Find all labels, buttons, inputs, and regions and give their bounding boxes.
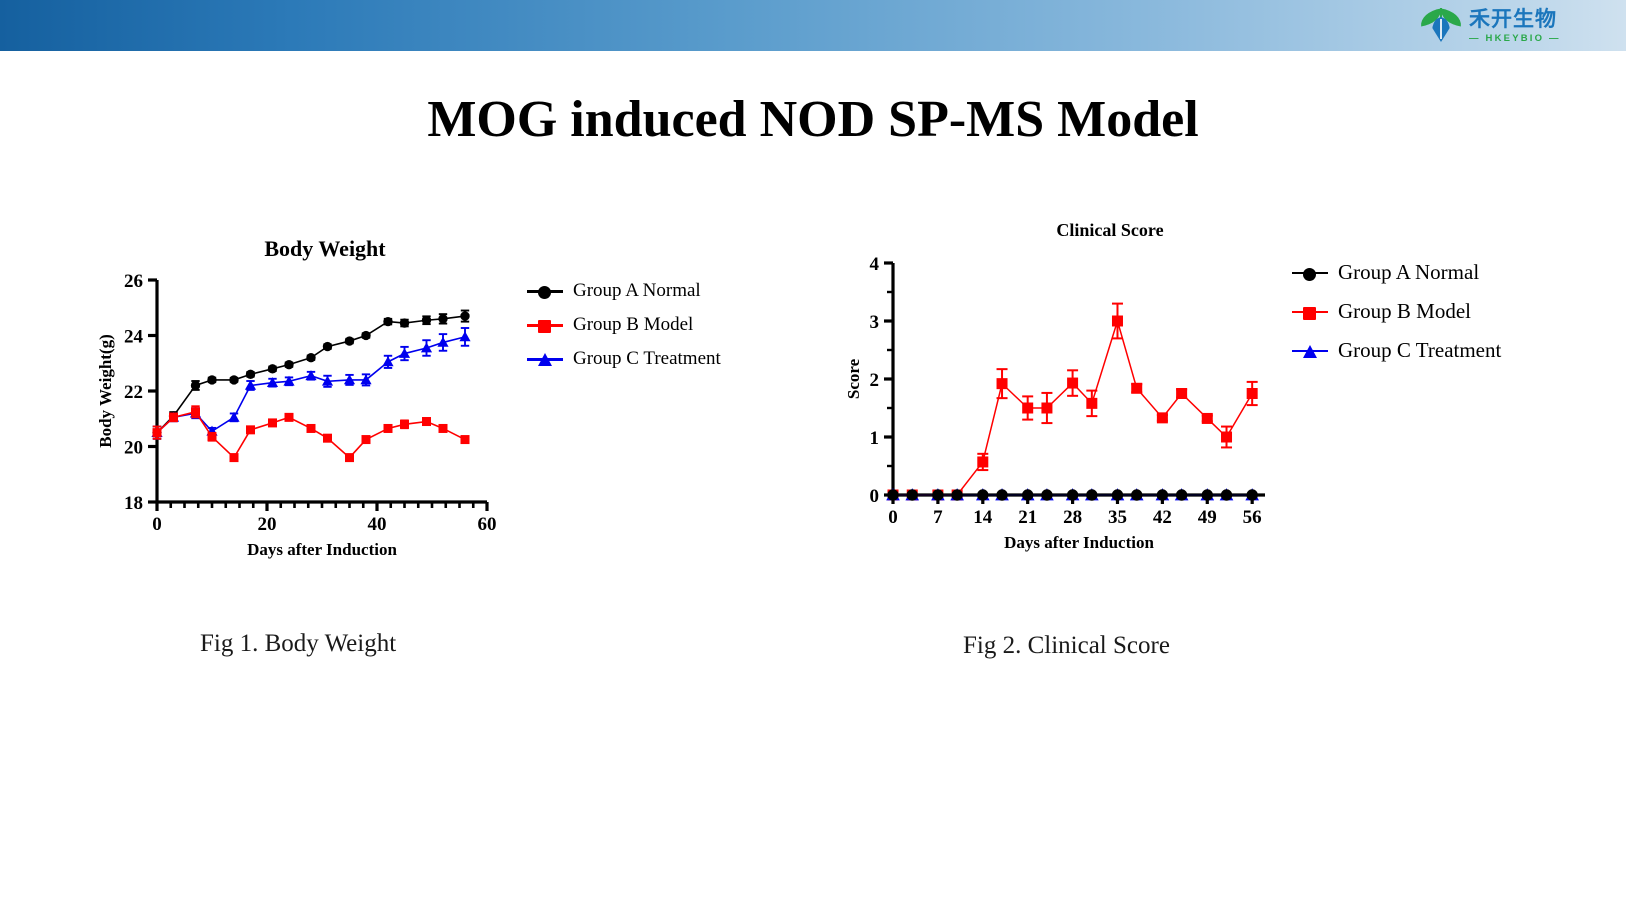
svg-text:3: 3 bbox=[870, 312, 880, 333]
legend-label-group-a: Group A Normal bbox=[1338, 260, 1479, 285]
svg-text:42: 42 bbox=[1153, 507, 1172, 528]
logo-drop-highlight bbox=[1440, 19, 1442, 39]
svg-text:Days after Induction: Days after Induction bbox=[1004, 533, 1154, 552]
legend-symbol-circle-icon bbox=[525, 283, 565, 299]
legend-clinical-score: Group A Normal Group B Model Group C Tre… bbox=[1290, 260, 1501, 363]
svg-text:0: 0 bbox=[152, 514, 162, 535]
page-title: MOG induced NOD SP-MS Model bbox=[0, 90, 1626, 149]
svg-text:0: 0 bbox=[870, 486, 880, 507]
legend-item-group-b: Group B Model bbox=[525, 314, 721, 336]
svg-text:2: 2 bbox=[870, 370, 880, 391]
svg-text:Body Weight(g): Body Weight(g) bbox=[96, 334, 115, 448]
svg-text:21: 21 bbox=[1018, 507, 1037, 528]
svg-text:20: 20 bbox=[124, 437, 143, 458]
svg-text:35: 35 bbox=[1108, 507, 1127, 528]
legend-item-group-b: Group B Model bbox=[1290, 299, 1501, 324]
legend-symbol-square-icon bbox=[525, 317, 565, 333]
legend-item-group-a: Group A Normal bbox=[525, 280, 721, 302]
svg-text:22: 22 bbox=[124, 382, 143, 403]
clinical-score-plot: 012340714212835424956Days after Inductio… bbox=[845, 215, 1285, 570]
svg-text:0: 0 bbox=[888, 507, 898, 528]
header-bar: 禾开生物 — HKEYBIO — bbox=[0, 0, 1626, 51]
svg-text:7: 7 bbox=[933, 507, 943, 528]
legend-symbol-circle-icon bbox=[1290, 265, 1330, 281]
legend-label-group-c: Group C Treatment bbox=[573, 348, 721, 370]
logo-chinese-name: 禾开生物 bbox=[1469, 9, 1561, 30]
svg-text:24: 24 bbox=[124, 326, 144, 347]
svg-text:Days after Induction: Days after Induction bbox=[247, 540, 397, 559]
figure-1-caption: Fig 1. Body Weight bbox=[200, 630, 396, 658]
logo-wordmark: 禾开生物 — HKEYBIO — bbox=[1469, 9, 1561, 44]
figure-body-weight: Body Weight 18202224260204060Days after … bbox=[95, 228, 755, 568]
body-weight-plot: 18202224260204060Days after InductionBod… bbox=[95, 228, 555, 568]
svg-text:40: 40 bbox=[368, 514, 387, 535]
svg-text:18: 18 bbox=[124, 493, 143, 514]
legend-symbol-triangle-icon bbox=[1290, 343, 1330, 359]
svg-text:14: 14 bbox=[973, 507, 993, 528]
figure-2-caption: Fig 2. Clinical Score bbox=[963, 632, 1170, 660]
svg-text:4: 4 bbox=[870, 254, 880, 275]
figure-clinical-score: Clinical Score 012340714212835424956Days… bbox=[845, 215, 1545, 570]
svg-text:56: 56 bbox=[1243, 507, 1262, 528]
company-logo: 禾开生物 — HKEYBIO — bbox=[1420, 4, 1610, 48]
legend-label-group-a: Group A Normal bbox=[573, 280, 701, 302]
logo-english-name: — HKEYBIO — bbox=[1469, 34, 1561, 44]
legend-body-weight: Group A Normal Group B Model Group C Tre… bbox=[525, 280, 721, 370]
legend-symbol-triangle-icon bbox=[525, 351, 565, 367]
leaf-drop-logo-icon bbox=[1420, 6, 1462, 46]
svg-text:26: 26 bbox=[124, 271, 143, 292]
legend-label-group-b: Group B Model bbox=[573, 314, 693, 336]
svg-text:49: 49 bbox=[1198, 507, 1217, 528]
legend-item-group-c: Group C Treatment bbox=[1290, 338, 1501, 363]
legend-symbol-square-icon bbox=[1290, 304, 1330, 320]
svg-text:60: 60 bbox=[478, 514, 497, 535]
legend-item-group-a: Group A Normal bbox=[1290, 260, 1501, 285]
legend-item-group-c: Group C Treatment bbox=[525, 348, 721, 370]
legend-label-group-b: Group B Model bbox=[1338, 299, 1471, 324]
svg-text:28: 28 bbox=[1063, 507, 1082, 528]
legend-label-group-c: Group C Treatment bbox=[1338, 338, 1501, 363]
svg-text:20: 20 bbox=[258, 514, 277, 535]
svg-text:1: 1 bbox=[870, 428, 880, 449]
svg-text:Score: Score bbox=[845, 358, 863, 399]
